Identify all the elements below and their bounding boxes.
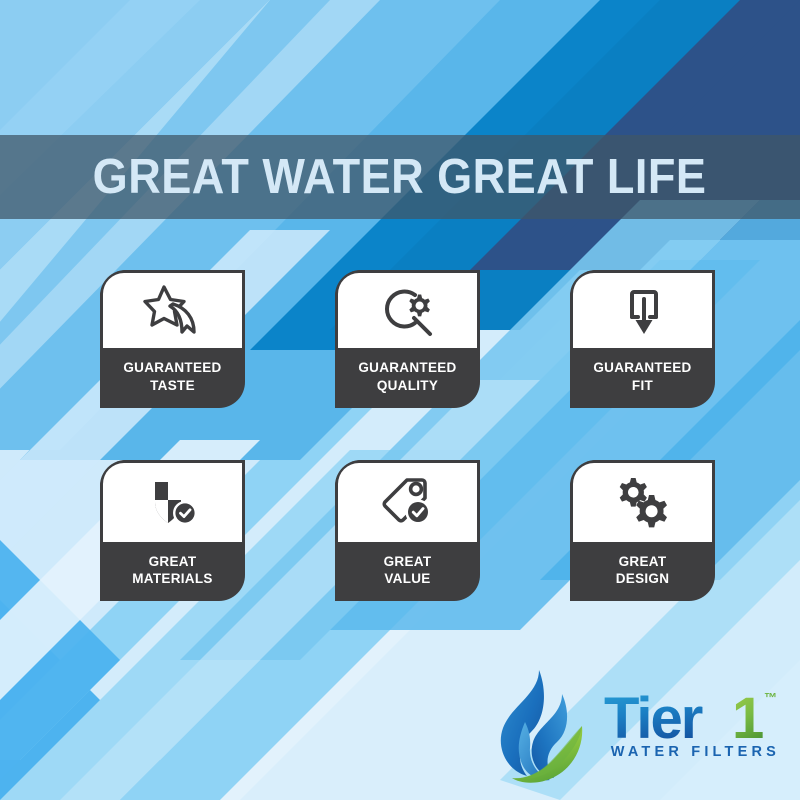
card-label-line1: GREAT	[384, 554, 432, 569]
logo-tagline: WATER FILTERS	[604, 744, 782, 760]
feature-card-guaranteed-fit[interactable]: GUARANTEED FIT	[570, 270, 715, 408]
card-label: GREAT MATERIALS	[100, 542, 245, 602]
card-icon-area	[335, 460, 480, 542]
gears-icon	[611, 472, 675, 532]
feature-card-guaranteed-quality[interactable]: GUARANTEED QUALITY	[335, 270, 480, 408]
svg-text:Tier: Tier	[604, 688, 703, 750]
page-title: GREAT WATER GREAT LIFE	[93, 153, 707, 202]
card-label-line2: FIT	[576, 377, 709, 395]
svg-text:™: ™	[764, 690, 777, 705]
card-icon-area	[335, 270, 480, 348]
headline-banner: GREAT WATER GREAT LIFE	[0, 135, 800, 219]
card-label-line2: MATERIALS	[106, 570, 239, 588]
feature-card-great-value[interactable]: GREAT VALUE	[335, 460, 480, 602]
card-row-2: GREAT MATERIALS	[100, 460, 715, 602]
card-icon-area	[100, 460, 245, 542]
logo-wordmark-block: Tier 1 ™ WATER FILTERS	[604, 666, 782, 760]
card-label-line2: DESIGN	[576, 570, 709, 588]
svg-text:1: 1	[732, 688, 764, 750]
card-icon-area	[570, 460, 715, 542]
card-label-line1: GUARANTEED	[358, 360, 456, 375]
card-label: GUARANTEED QUALITY	[335, 348, 480, 408]
card-label-line1: GUARANTEED	[123, 360, 221, 375]
insert-arrow-icon	[612, 282, 674, 340]
marketing-graphic: GREAT WATER GREAT LIFE GUARANTEED TASTE	[0, 0, 800, 800]
card-label-line2: TASTE	[106, 377, 239, 395]
feature-card-great-design[interactable]: GREAT DESIGN	[570, 460, 715, 602]
tier1-wordmark: Tier 1 ™	[604, 688, 782, 750]
feature-card-grid: GUARANTEED TASTE	[100, 270, 715, 601]
card-icon-area	[570, 270, 715, 348]
card-label-line2: VALUE	[341, 570, 474, 588]
shooting-star-icon	[142, 282, 204, 340]
price-tag-check-icon	[376, 472, 440, 532]
card-label: GREAT VALUE	[335, 542, 480, 602]
feature-card-guaranteed-taste[interactable]: GUARANTEED TASTE	[100, 270, 245, 408]
brand-logo[interactable]: Tier 1 ™ WATER FILTERS	[492, 666, 782, 791]
feature-card-great-materials[interactable]: GREAT MATERIALS	[100, 460, 245, 602]
card-label: GUARANTEED TASTE	[100, 348, 245, 408]
card-label-line1: GREAT	[149, 554, 197, 569]
card-label-line2: QUALITY	[341, 377, 474, 395]
card-row-1: GUARANTEED TASTE	[100, 270, 715, 408]
card-icon-area	[100, 270, 245, 348]
water-drop-leaf-icon	[492, 666, 600, 788]
magnifier-gear-icon	[377, 282, 439, 340]
shield-check-icon	[141, 472, 205, 532]
card-label-line1: GUARANTEED	[593, 360, 691, 375]
card-label: GUARANTEED FIT	[570, 348, 715, 408]
card-label-line1: GREAT	[619, 554, 667, 569]
card-label: GREAT DESIGN	[570, 542, 715, 602]
